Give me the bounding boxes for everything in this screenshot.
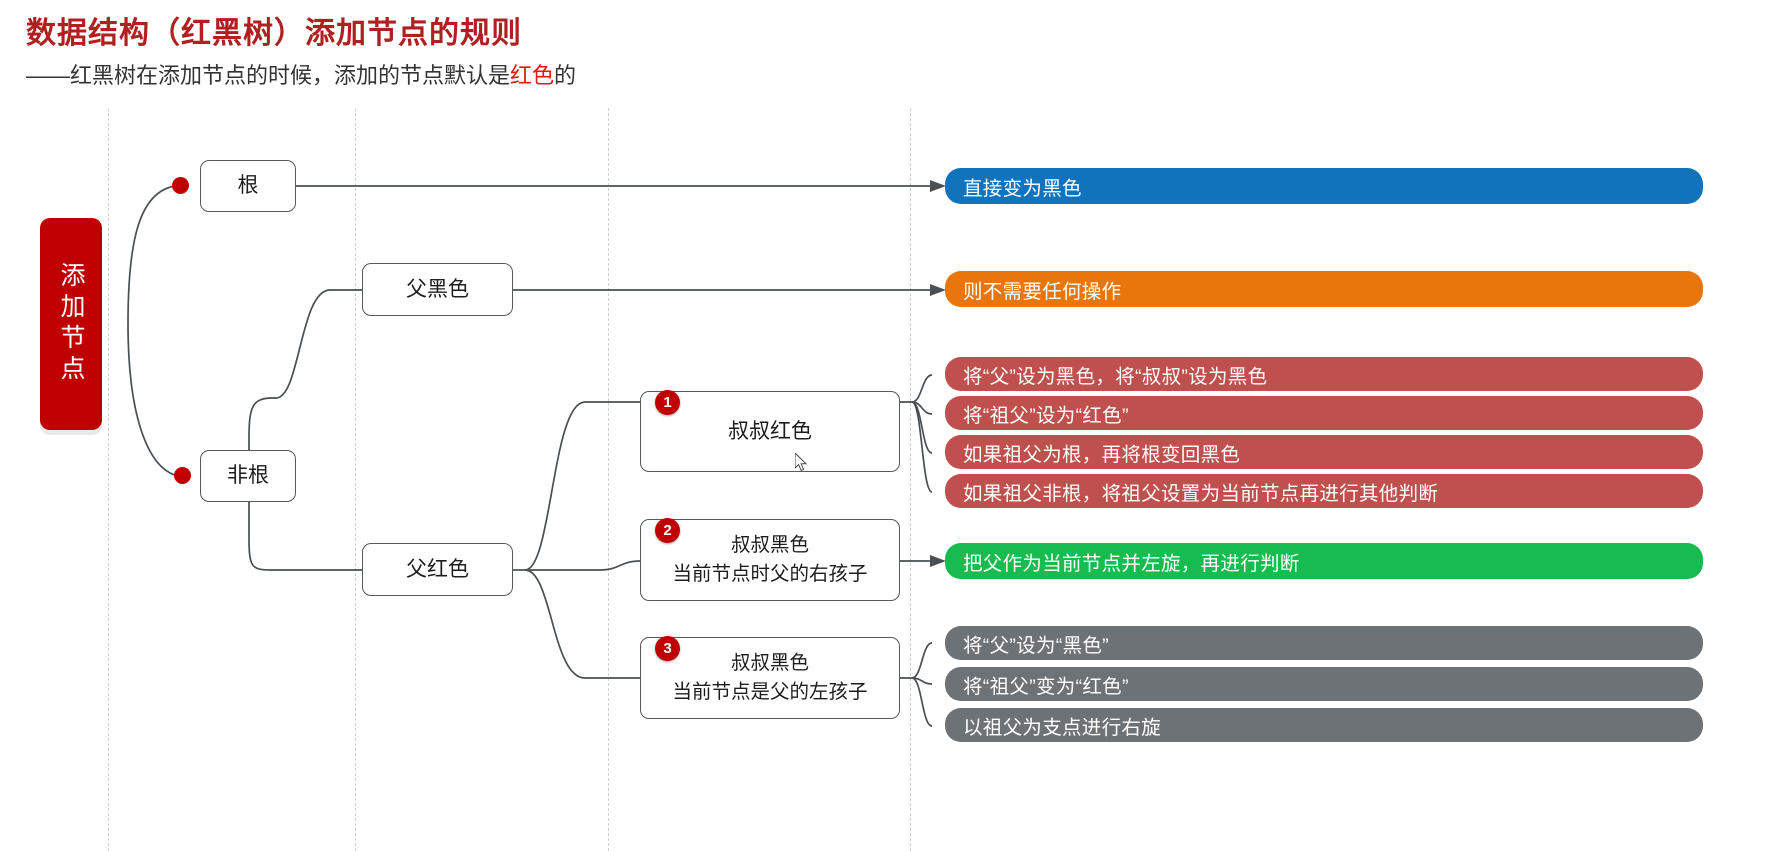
bar-grey-2[interactable]: 将“祖父”变为“红色” (945, 667, 1703, 701)
guide-line-3 (608, 108, 609, 851)
arrow-head-orange (930, 284, 946, 296)
mouse-cursor (795, 453, 809, 473)
node-fu-hei[interactable]: 父黑色 (362, 263, 513, 316)
guide-line-4 (910, 108, 911, 851)
page-subtitle: ——红黑树在添加节点的时候，添加的节点默认是红色的 (26, 58, 576, 90)
guide-line-2 (355, 108, 356, 851)
bar-red-2[interactable]: 将“祖父”设为“红色” (945, 396, 1703, 430)
node-gen[interactable]: 根 (200, 160, 296, 212)
bar-grey-3[interactable]: 以祖父为支点进行右旋 (945, 708, 1703, 742)
subtitle-prefix: ——红黑树在添加节点的时候，添加的节点默认是 (26, 63, 510, 88)
mindmap-canvas: 添加节点 根 非根 父黑色 父红色 叔叔红色 1 叔叔黑色 当前节点时父的右孩子… (0, 108, 1766, 851)
node-feigen[interactable]: 非根 (200, 450, 296, 502)
bar-red-4[interactable]: 如果祖父非根，将祖父设置为当前节点再进行其他判断 (945, 474, 1703, 508)
arrow-head-blue (930, 180, 946, 192)
node-case2-line1: 叔叔黑色 (731, 531, 809, 560)
subtitle-highlight: 红色 (510, 63, 554, 88)
node-case2-line2: 当前节点时父的右孩子 (672, 560, 867, 589)
subtitle-suffix: 的 (554, 63, 576, 88)
node-case3-line2: 当前节点是父的左孩子 (672, 678, 867, 707)
bar-orange[interactable]: 则不需要任何操作 (945, 271, 1703, 307)
arrow-head-green (930, 555, 946, 567)
bullet-dot-feigen (174, 467, 191, 484)
guide-line-1 (108, 108, 109, 851)
node-fu-hong[interactable]: 父红色 (362, 543, 513, 596)
badge-case3: 3 (655, 636, 680, 661)
bullet-dot-gen (172, 177, 189, 194)
page-title: 数据结构（红黑树）添加节点的规则 (26, 8, 522, 52)
bar-red-1[interactable]: 将“父”设为黑色，将“叔叔”设为黑色 (945, 357, 1703, 391)
node-case3-line1: 叔叔黑色 (731, 649, 809, 678)
bar-red-3[interactable]: 如果祖父为根，再将根变回黑色 (945, 435, 1703, 469)
bar-green[interactable]: 把父作为当前节点并左旋，再进行判断 (945, 543, 1703, 579)
bar-blue[interactable]: 直接变为黑色 (945, 168, 1703, 204)
badge-case2: 2 (655, 518, 680, 543)
bar-grey-1[interactable]: 将“父”设为“黑色” (945, 626, 1703, 660)
root-node[interactable]: 添加节点 (40, 218, 102, 430)
badge-case1: 1 (655, 390, 680, 415)
